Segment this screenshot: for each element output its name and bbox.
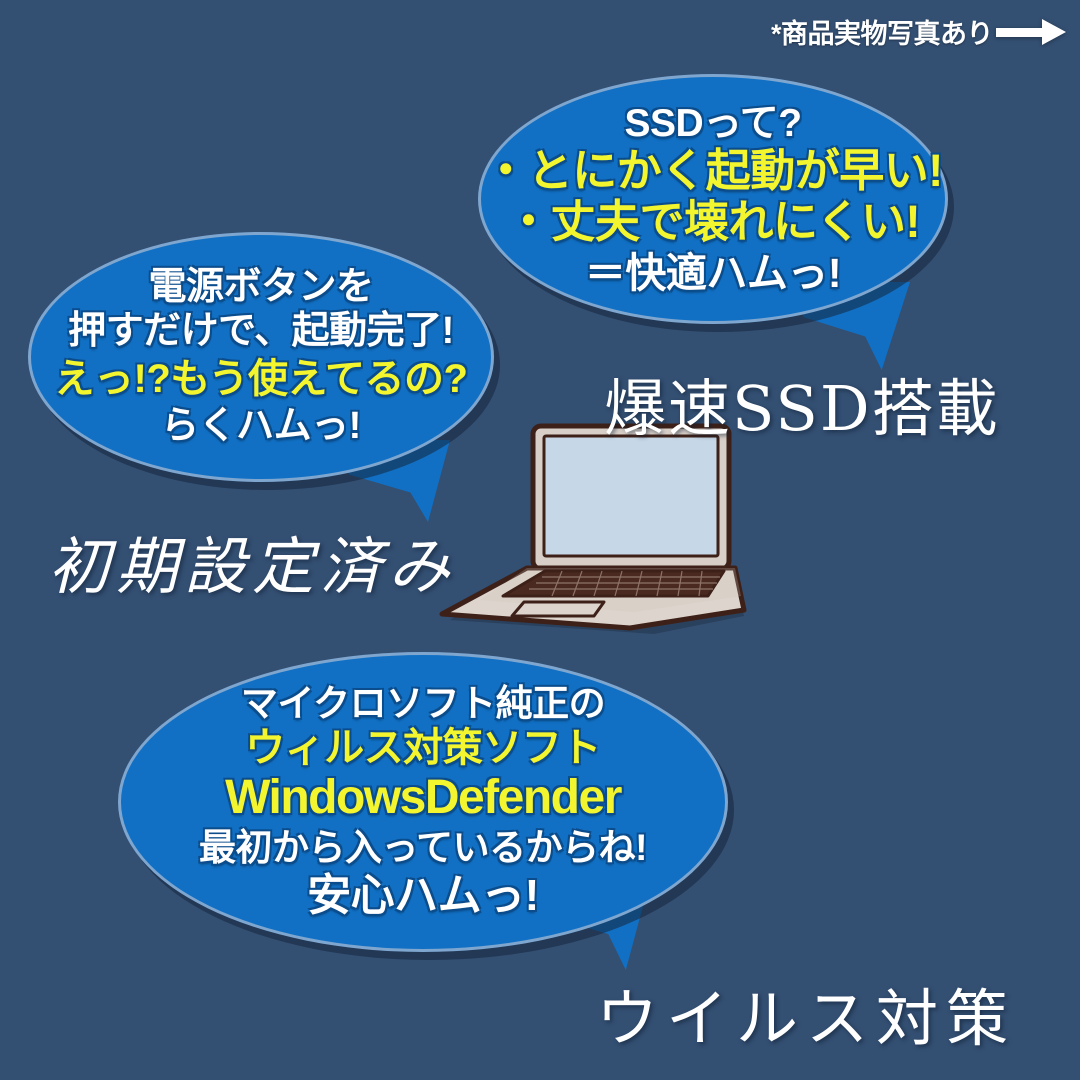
bubble-defender-line-3: WindowsDefender — [225, 772, 621, 824]
bubble-ssd-line-1: SSDって? — [624, 103, 801, 145]
bubble-power-line-2: 押すだけで、起動完了! — [68, 311, 454, 352]
caption-antivirus: ウイルス対策 — [596, 968, 1016, 1058]
caption-ssd: 爆速SSD搭載 — [604, 358, 1000, 448]
speech-bubble-power-button: 電源ボタンを 押すだけで、起動完了! えっ!?もう使えてるの? らくハムっ! — [28, 232, 494, 482]
bubble-power-line-3: えっ!?もう使えてるの? — [55, 358, 468, 401]
laptop-keyboard — [503, 571, 724, 596]
bubble-ssd-line-2: ・とにかく起動が早い! — [483, 147, 943, 196]
bubble-defender-line-5: 安心ハムっ! — [307, 872, 539, 920]
laptop-illustration — [432, 420, 762, 650]
caption-setup-done: 初期設定済み — [48, 516, 456, 606]
bubble-ssd-line-4: ＝快適ハムっ! — [585, 251, 841, 295]
arrow-right-icon — [996, 19, 1066, 45]
photo-note-label: *商品実物写真あり — [771, 12, 993, 51]
bubble-defender-line-4: 最初から入っているからね! — [199, 828, 647, 868]
laptop-trackpad — [512, 602, 604, 616]
speech-bubble-windows-defender: マイクロソフト純正の ウィルス対策ソフト WindowsDefender 最初か… — [118, 652, 728, 952]
bubble-defender-line-2: ウィルス対策ソフト — [245, 727, 601, 770]
poster-canvas: *商品実物写真あり SSDって? ・とにかく起動が早い! ・丈夫で壊れにくい! … — [0, 0, 1080, 1080]
bubble-defender-line-1: マイクロソフト純正の — [241, 684, 605, 724]
bubble-ssd-line-3: ・丈夫で壊れにくい! — [506, 198, 920, 247]
speech-bubble-ssd: SSDって? ・とにかく起動が早い! ・丈夫で壊れにくい! ＝快適ハムっ! — [478, 74, 948, 324]
bubble-power-line-1: 電源ボタンを — [148, 267, 373, 308]
bubble-power-line-4: らくハムっ! — [161, 406, 361, 447]
photo-note: *商品実物写真あり — [771, 12, 1066, 51]
